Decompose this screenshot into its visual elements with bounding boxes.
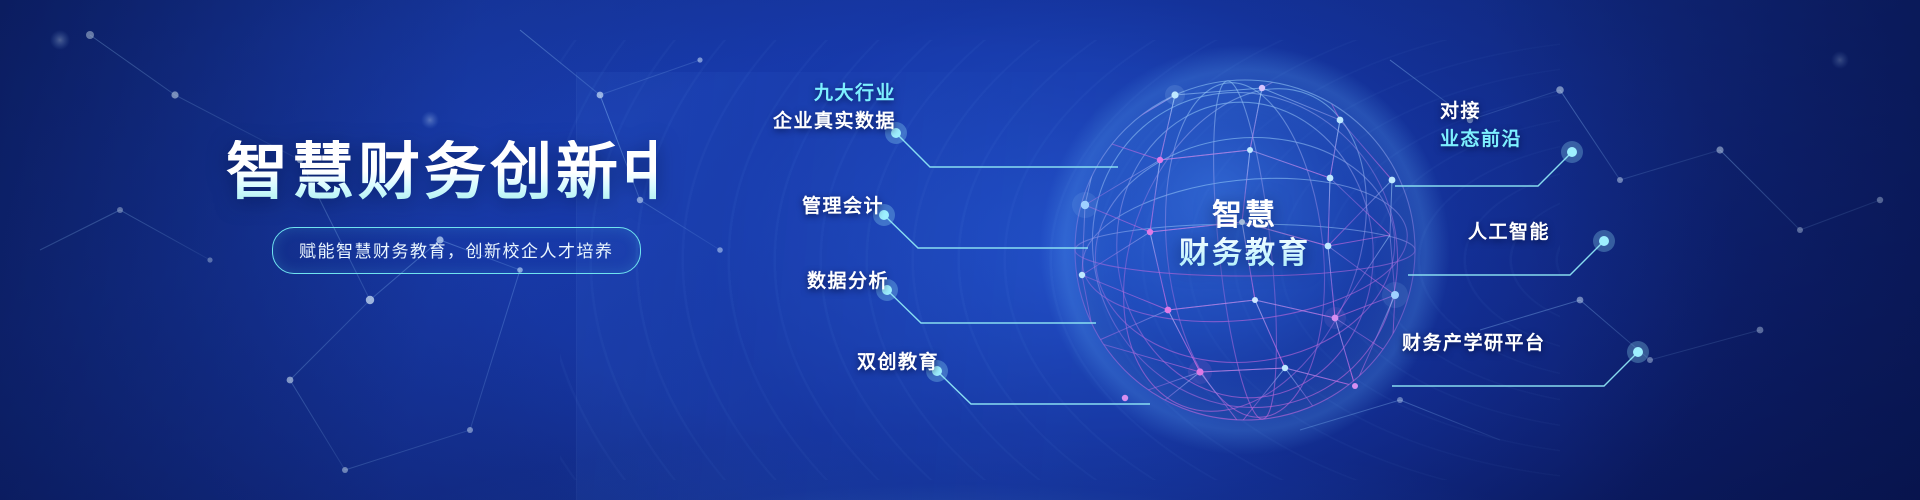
- globe-label-line2: 财务教育: [1179, 237, 1311, 270]
- hero-banner: 智慧财务创新中心 赋能智慧财务教育，创新校企人才培养 智慧 财务教育 九大行业 …: [0, 0, 1920, 500]
- label-finance-research-platform-line1: 财务产学研平台: [1402, 330, 1632, 358]
- globe-label-line1: 智慧: [1212, 199, 1278, 232]
- page-title: 智慧财务创新中心: [226, 140, 656, 205]
- subtitle-pill: 赋能智慧财务教育，创新校企人才培养: [272, 227, 641, 274]
- label-management-accounting[interactable]: 管理会计: [700, 193, 884, 221]
- label-finance-research-platform[interactable]: 财务产学研平台: [1402, 330, 1632, 358]
- label-data-analysis[interactable]: 数据分析: [705, 268, 889, 296]
- label-artificial-intelligence-line1: 人工智能: [1468, 219, 1648, 247]
- label-nine-industries[interactable]: 九大行业 企业真实数据: [720, 80, 896, 135]
- label-artificial-intelligence[interactable]: 人工智能: [1468, 219, 1648, 247]
- label-industry-frontier-line2: 业态前沿: [1440, 126, 1620, 154]
- label-nine-industries-line2: 企业真实数据: [720, 108, 896, 136]
- globe-center-label: 智慧 财务教育: [1150, 197, 1340, 274]
- label-innovation-education[interactable]: 双创教育: [755, 349, 939, 377]
- label-innovation-education-line1: 双创教育: [755, 349, 939, 377]
- label-data-analysis-line1: 数据分析: [705, 268, 889, 296]
- label-industry-frontier-line1: 对接: [1440, 98, 1620, 126]
- label-industry-frontier[interactable]: 对接 业态前沿: [1440, 98, 1620, 153]
- label-management-accounting-line1: 管理会计: [700, 193, 884, 221]
- label-nine-industries-line1: 九大行业: [720, 80, 896, 108]
